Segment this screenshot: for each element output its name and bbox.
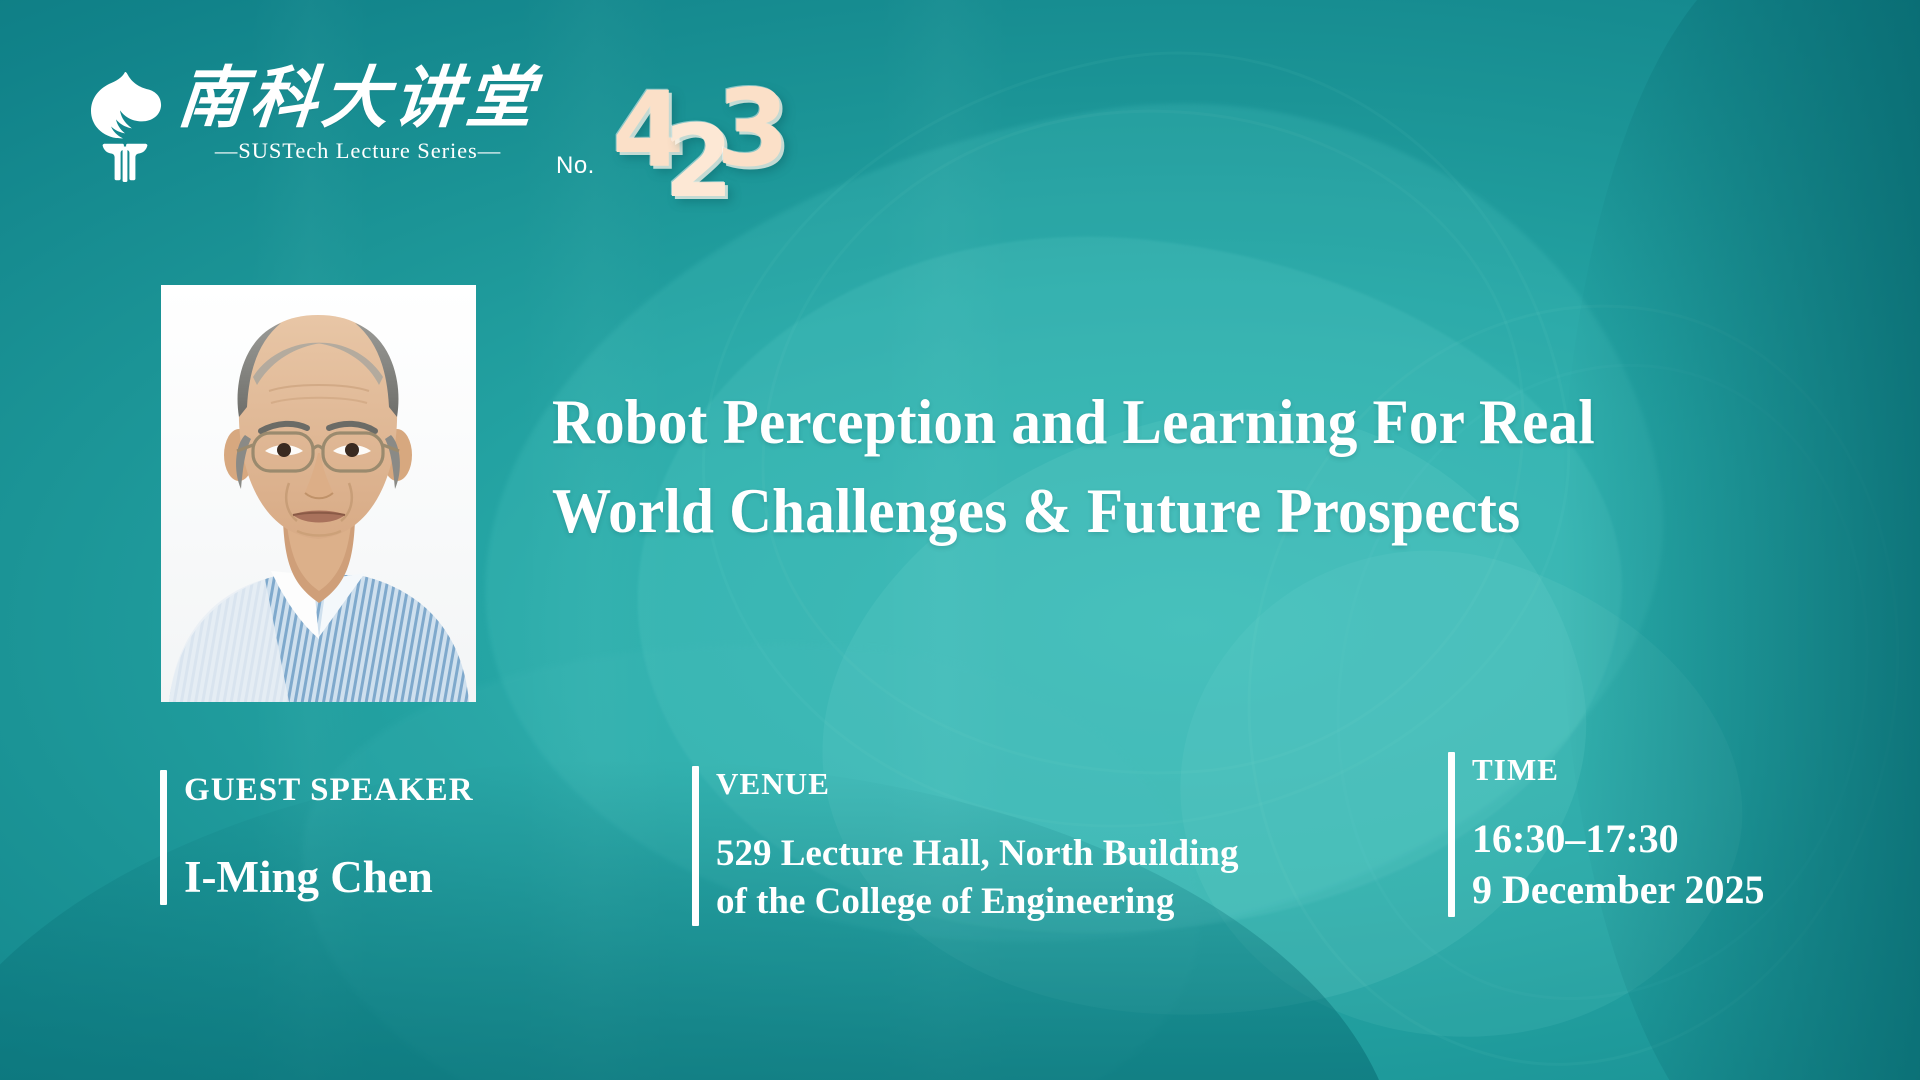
issue-number: 4 2 3 bbox=[612, 78, 932, 208]
info-block-time: TIME 16:30–17:30 9 December 2025 bbox=[1448, 752, 1765, 917]
lecture-poster: 南科大讲堂 —SUSTech Lecture Series— No. 4 2 3 bbox=[0, 0, 1920, 1080]
info-block-guest-speaker: GUEST SPEAKER I-Ming Chen bbox=[160, 770, 474, 905]
sustech-flame-torch-icon bbox=[86, 70, 164, 182]
event-date: 9 December 2025 bbox=[1472, 865, 1765, 916]
info-block-venue: VENUE 529 Lecture Hall, North Building o… bbox=[692, 766, 1238, 926]
speaker-portrait-photo bbox=[161, 285, 476, 702]
brand-title-cn: 南科大讲堂 bbox=[175, 64, 541, 131]
brand-subtitle-en: —SUSTech Lecture Series— bbox=[178, 138, 538, 164]
venue-line-2: of the College of Engineering bbox=[716, 878, 1238, 926]
time-range: 16:30–17:30 bbox=[1472, 814, 1765, 865]
accent-bar bbox=[692, 766, 699, 926]
accent-bar bbox=[160, 770, 167, 905]
time-label: TIME bbox=[1472, 752, 1765, 788]
lecture-title: Robot Perception and Learning For Real W… bbox=[552, 378, 1782, 557]
lecture-title-line-2: World Challenges & Future Prospects bbox=[552, 467, 1708, 556]
accent-bar bbox=[1448, 752, 1455, 917]
issue-no-label-wrap: No. bbox=[556, 152, 595, 180]
lecture-title-line-1: Robot Perception and Learning For Real bbox=[552, 378, 1708, 467]
venue-label: VENUE bbox=[716, 766, 1238, 802]
guest-speaker-label: GUEST SPEAKER bbox=[184, 772, 474, 809]
venue-line-1: 529 Lecture Hall, North Building bbox=[716, 830, 1238, 878]
guest-speaker-name: I-Ming Chen bbox=[184, 851, 474, 903]
issue-no-label: No. bbox=[556, 152, 595, 179]
brand-header: 南科大讲堂 —SUSTech Lecture Series— bbox=[86, 64, 538, 182]
issue-digit-3: 3 bbox=[716, 76, 790, 182]
